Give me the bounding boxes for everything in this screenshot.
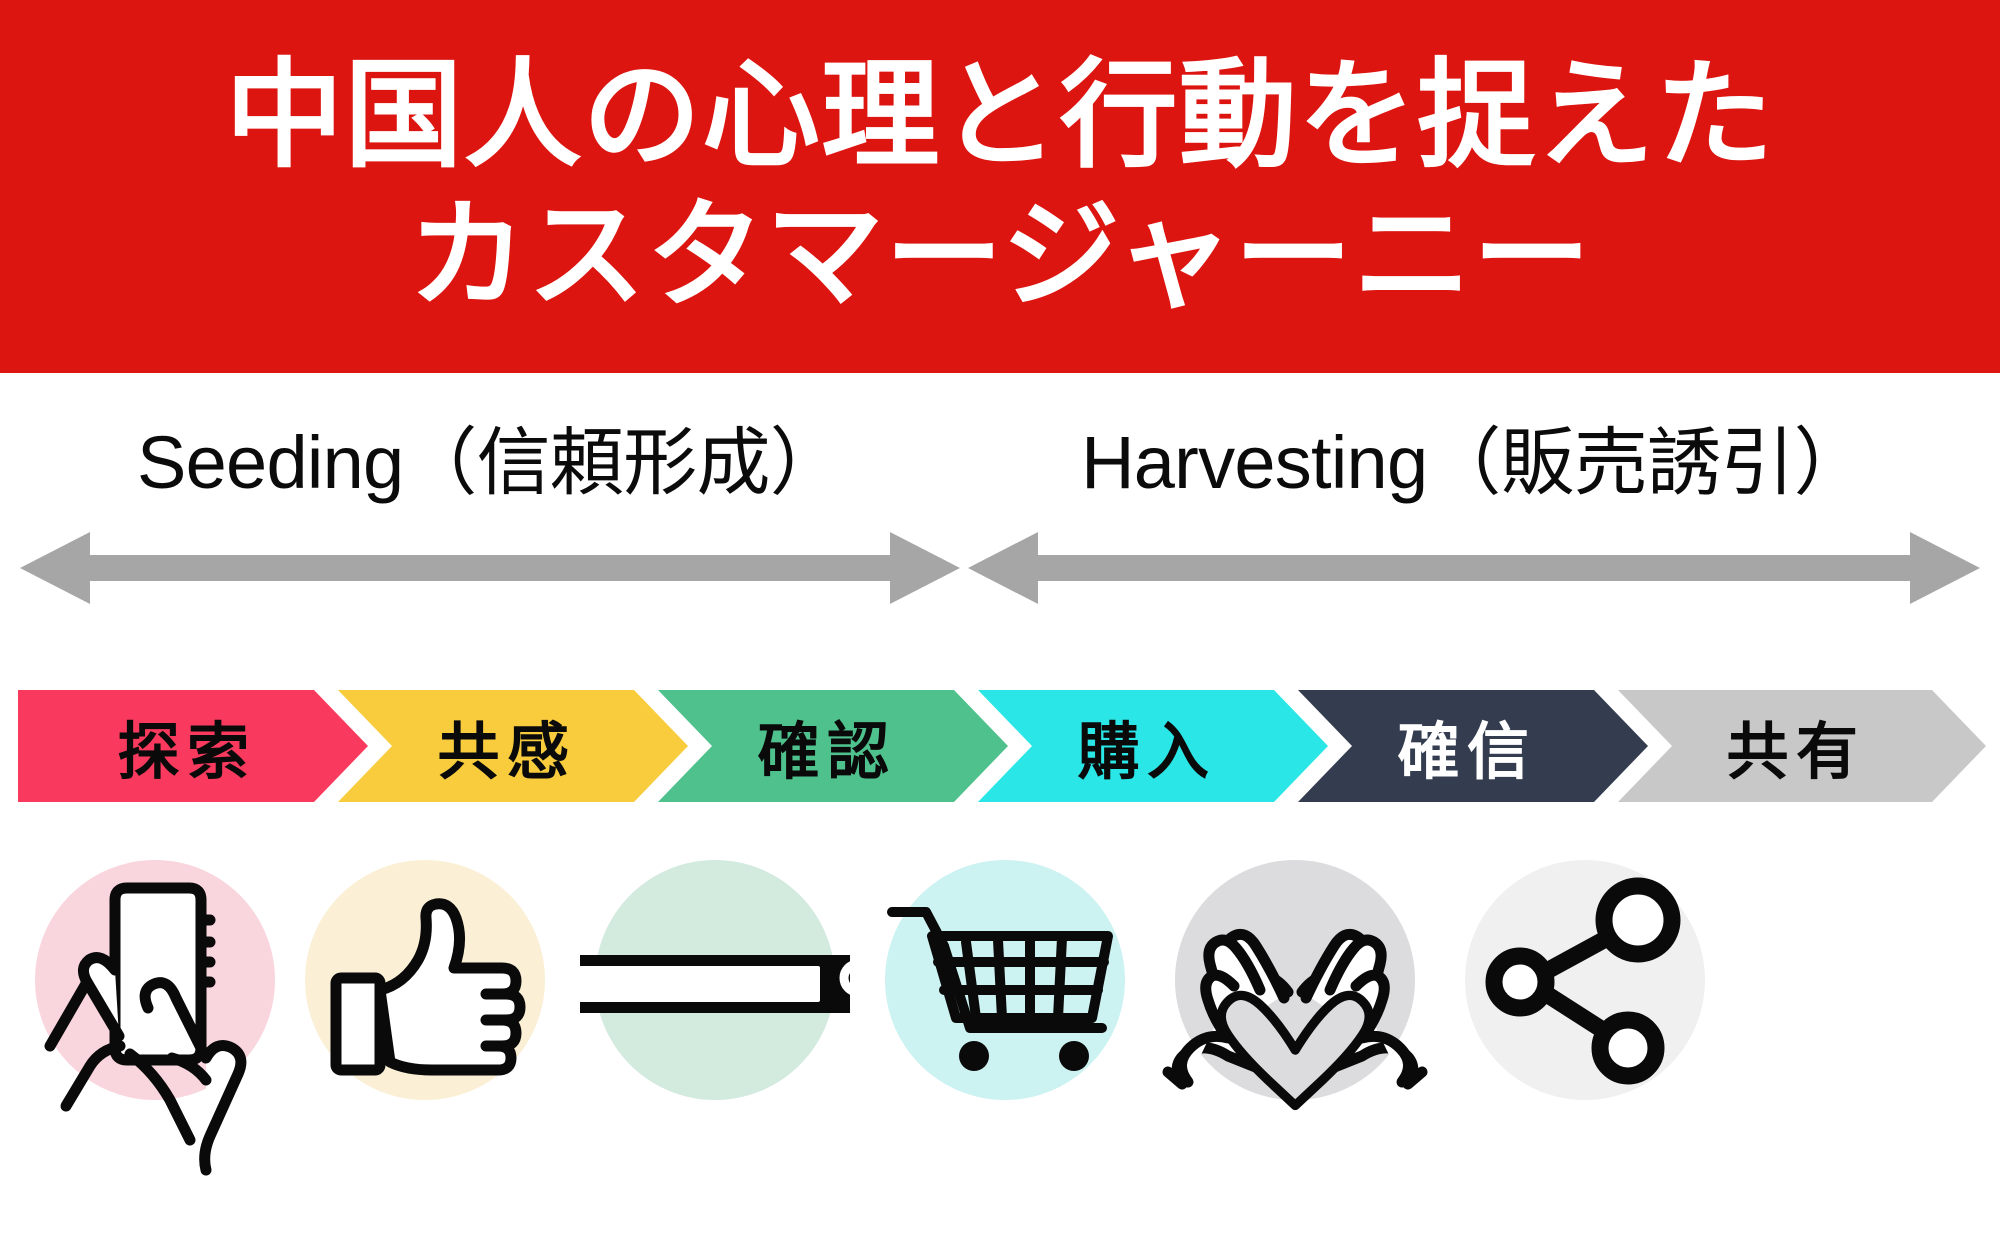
phase-harvesting: Harvesting（販売誘引） xyxy=(968,373,1980,643)
stage-chevron-kyoyu[interactable]: 共有 xyxy=(1618,690,1986,802)
stage-chevron-bar: 探索 共感 確認 購入 確信 xyxy=(18,690,1986,802)
icon-cell-kyoyu xyxy=(1450,850,1720,1190)
icon-cell-konyu xyxy=(870,850,1140,1190)
stage-chevron-konyu[interactable]: 購入 xyxy=(978,690,1328,802)
phase-harvesting-label: Harvesting（販売誘引） xyxy=(968,403,1980,510)
icon-row xyxy=(0,850,2000,1190)
page-title-line-1: 中国人の心理と行動を捉えた xyxy=(225,47,1774,186)
phase-seeding-arrow xyxy=(20,528,960,608)
share-nodes-icon xyxy=(1450,850,1720,1190)
stage-label: 探索 xyxy=(118,701,257,791)
stage-chevron-kyokan[interactable]: 共感 xyxy=(338,690,688,802)
stage-chevron-kakunin[interactable]: 確認 xyxy=(658,690,1008,802)
icon-cell-kyokan xyxy=(290,850,560,1190)
hands-heart-icon xyxy=(1160,850,1430,1190)
stage-label: 確信 xyxy=(1398,701,1537,791)
search-bar-icon xyxy=(580,850,850,1190)
icon-cell-kakushin xyxy=(1160,850,1430,1190)
shopping-cart-icon xyxy=(870,850,1140,1190)
stage-chevron-tansaku[interactable]: 探索 xyxy=(18,690,368,802)
smartphone-tap-icon xyxy=(20,850,290,1190)
stage-label: 確認 xyxy=(758,701,897,791)
phase-harvesting-arrow xyxy=(968,528,1980,608)
thumbs-up-icon xyxy=(290,850,560,1190)
stage-label: 共感 xyxy=(438,701,577,791)
stage-label: 共有 xyxy=(1727,701,1866,791)
phase-seeding-label: Seeding（信頼形成） xyxy=(20,403,960,510)
page-title-line-2: カスタマージャーニー xyxy=(408,187,1592,326)
icon-cell-kakunin xyxy=(580,850,850,1190)
icon-cell-tansaku xyxy=(20,850,290,1190)
stage-chevron-kakushin[interactable]: 確信 xyxy=(1298,690,1648,802)
phase-seeding: Seeding（信頼形成） xyxy=(20,373,960,643)
phase-section: Seeding（信頼形成） Harvesting（販売誘引） xyxy=(0,373,2000,643)
header-banner: 中国人の心理と行動を捉えた カスタマージャーニー xyxy=(0,0,2000,373)
stage-label: 購入 xyxy=(1078,701,1217,791)
